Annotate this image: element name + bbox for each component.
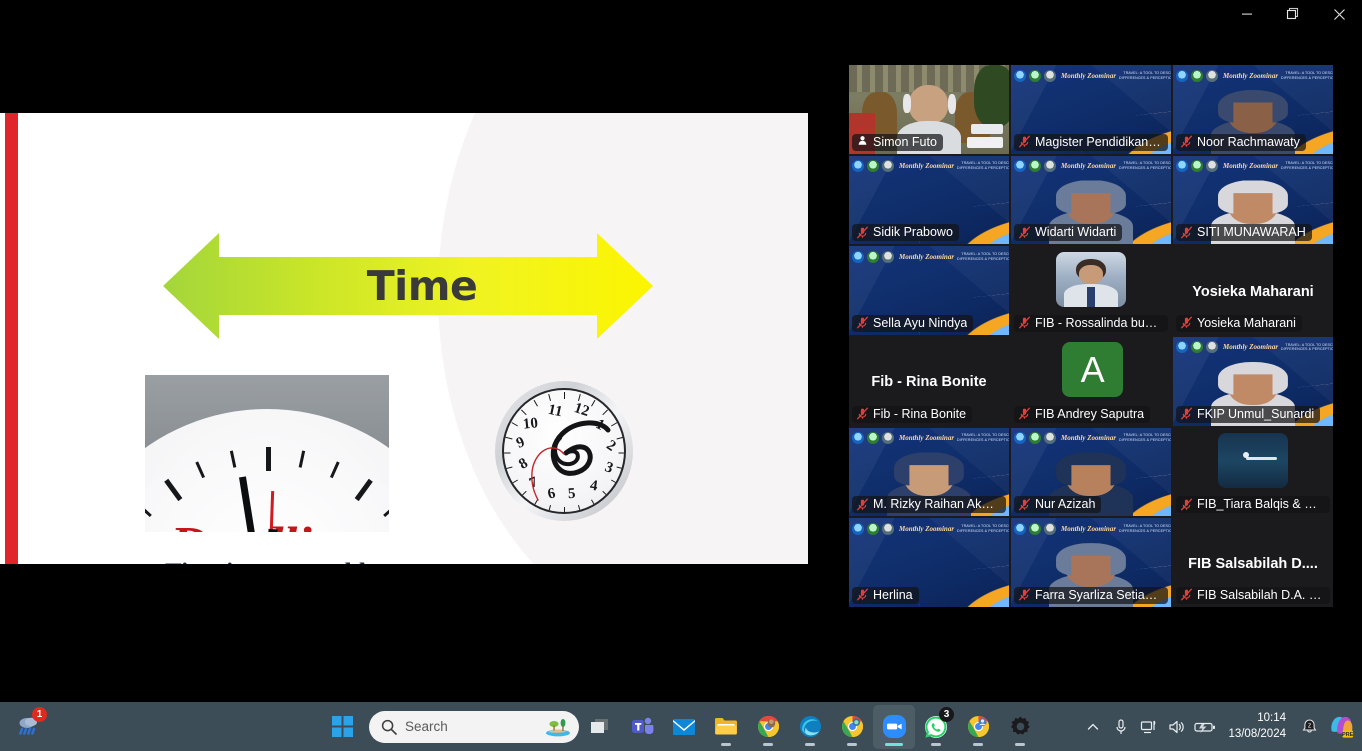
copilot-button[interactable]: PRE (1324, 705, 1356, 749)
restore-button[interactable] (1270, 0, 1316, 28)
microphone-button[interactable] (1108, 705, 1134, 749)
participant-tile[interactable]: Monthly Zoominar TRAVEL: A TOOL TO DESCR… (1173, 156, 1333, 245)
banner-tagline: TRAVEL: A TOOL TO DESCRIBE CULTUREDIFFER… (1119, 524, 1171, 534)
system-tray: 10:14 13/08/2024 z PRE (1080, 705, 1356, 749)
institution-logo-1-icon (852, 251, 864, 263)
muted-microphone-icon (1180, 498, 1193, 511)
institution-logo-3-icon (1206, 341, 1218, 353)
slide-letterbox-top (0, 85, 808, 113)
banner-title: Monthly Zoominar (1223, 72, 1278, 80)
banner-tagline: TRAVEL: A TOOL TO DESCRIBE CULTUREDIFFER… (1281, 343, 1333, 353)
show-hidden-icons-button[interactable] (1080, 705, 1106, 749)
participant-tile[interactable]: Monthly Zoominar TRAVEL: A TOOL TO DESCR… (1011, 428, 1171, 517)
banner-title: Monthly Zoominar (1061, 72, 1116, 80)
participant-name: Nur Azizah (1035, 497, 1095, 511)
institution-logo-3-icon (1206, 160, 1218, 172)
virtual-background-banner: Monthly Zoominar TRAVEL: A TOOL TO DESCR… (1014, 521, 1168, 536)
avatar-letter: A (1081, 349, 1105, 391)
participant-name-label: SITI MUNAWARAH (1176, 224, 1312, 241)
institution-logo-1-icon (1014, 70, 1026, 82)
banner-tagline: TRAVEL: A TOOL TO DESCRIBE CULTUREDIFFER… (957, 433, 1009, 443)
participant-name-label: Widarti Widarti (1014, 224, 1122, 241)
participant-tile[interactable]: Simon Futo (849, 65, 1009, 154)
virtual-background-banner: Monthly Zoominar TRAVEL: A TOOL TO DESCR… (1014, 159, 1168, 174)
task-view-icon (589, 717, 611, 737)
pinned-icon (856, 135, 869, 148)
banner-tagline: TRAVEL: A TOOL TO DESCRIBE CULTUREDIFFER… (1281, 161, 1333, 171)
deadline-clock-image: Deadline (145, 375, 389, 532)
taskbar-left-cluster: 1 (8, 705, 50, 749)
participant-name: Farra Syarliza Setiawan (1035, 588, 1162, 602)
banner-title: Monthly Zoominar (899, 162, 954, 170)
participant-name: Yosieka Maharani (1197, 316, 1296, 330)
muted-microphone-icon (1180, 135, 1193, 148)
virtual-background-banner: Monthly Zoominar TRAVEL: A TOOL TO DESCR… (1014, 68, 1168, 83)
muted-microphone-icon (856, 226, 869, 239)
chrome-button-1[interactable] (747, 705, 789, 749)
participant-name: Sidik Prabowo (873, 225, 953, 239)
participant-name-label: FIB - Rossalinda budi ... (1014, 315, 1168, 332)
search-input-placeholder[interactable]: Search (405, 719, 537, 734)
presentation-slide[interactable]: Time (0, 85, 808, 589)
institution-logo-2-icon (1191, 160, 1203, 172)
clock-date: 13/08/2024 (1228, 727, 1286, 743)
banner-tagline: TRAVEL: A TOOL TO DESCRIBE CULTUREDIFFER… (957, 524, 1009, 534)
file-explorer-button[interactable] (705, 705, 747, 749)
network-button[interactable] (1136, 705, 1162, 749)
taskbar-center-cluster: Search (321, 705, 1041, 749)
notification-bell-icon: z (1300, 717, 1319, 736)
institution-logo-1-icon (1176, 341, 1188, 353)
banner-tagline: TRAVEL: A TOOL TO DESCRIBE CULTUREDIFFER… (1119, 433, 1171, 443)
banner-tagline: TRAVEL: A TOOL TO DESCRIBE CULTUREDIFFER… (1119, 161, 1171, 171)
muted-microphone-icon (856, 498, 869, 511)
institution-logo-1-icon (1014, 523, 1026, 535)
teams-button[interactable] (621, 705, 663, 749)
participant-tile[interactable]: FIB_Tiara Balqis & Ha... (1173, 428, 1333, 517)
participant-name: FIB_Tiara Balqis & Ha... (1197, 497, 1324, 511)
banner-title: Monthly Zoominar (899, 253, 954, 261)
window-controls (1224, 0, 1362, 28)
search-icon (381, 719, 397, 735)
virtual-background-banner: Monthly Zoominar TRAVEL: A TOOL TO DESCR… (852, 431, 1006, 446)
participant-name: FKIP Unmul_Sunardi (1197, 407, 1314, 421)
participant-name: Sella Ayu Nindya (873, 316, 967, 330)
participant-name-label: Sella Ayu Nindya (852, 315, 973, 332)
screen: Time (0, 0, 1362, 751)
participant-tile[interactable]: Monthly Zoominar TRAVEL: A TOOL TO DESCR… (1173, 337, 1333, 426)
chrome-icon (757, 715, 780, 738)
participant-name-label: FIB Salsabilah D.A. & ... (1176, 587, 1330, 604)
virtual-background-banner: Monthly Zoominar TRAVEL: A TOOL TO DESCR… (1014, 431, 1168, 446)
institution-logo-2-icon (867, 160, 879, 172)
participant-name-label: Nur Azizah (1014, 496, 1101, 513)
institution-logo-3-icon (882, 160, 894, 172)
participant-name: SITI MUNAWARAH (1197, 225, 1306, 239)
participant-display-name: FIB Salsabilah D.... (1173, 556, 1333, 572)
institution-logo-1-icon (852, 432, 864, 444)
institution-logo-2-icon (1029, 523, 1041, 535)
participant-name-label: FIB_Tiara Balqis & Ha... (1176, 496, 1330, 513)
chrome-icon (967, 715, 990, 738)
participant-name: Noor Rachmawaty (1197, 135, 1300, 149)
banner-title: Monthly Zoominar (1061, 162, 1116, 170)
virtual-background-banner: Monthly Zoominar TRAVEL: A TOOL TO DESCR… (852, 159, 1006, 174)
virtual-background-banner: Monthly Zoominar TRAVEL: A TOOL TO DESCR… (1176, 159, 1330, 174)
time-arrow-graphic: Time (163, 233, 653, 339)
video-feed (1218, 433, 1288, 488)
participant-name-label: Noor Rachmawaty (1176, 134, 1306, 151)
speaker-icon (1168, 718, 1186, 736)
participant-tile[interactable]: Monthly Zoominar TRAVEL: A TOOL TO DESCR… (1173, 65, 1333, 154)
restore-icon (1286, 7, 1300, 21)
muted-microphone-icon (1180, 226, 1193, 239)
svg-text:z: z (1307, 722, 1311, 729)
participant-name-label: Yosieka Maharani (1176, 315, 1302, 332)
institution-logo-2-icon (1029, 160, 1041, 172)
svg-text:PRE: PRE (1342, 732, 1353, 738)
muted-microphone-icon (1018, 316, 1031, 329)
windows-icon (332, 716, 353, 737)
institution-logo-2-icon (867, 432, 879, 444)
institution-logo-3-icon (1206, 70, 1218, 82)
close-button[interactable] (1316, 0, 1362, 28)
search-box[interactable]: Search (369, 711, 579, 743)
minimize-icon (1241, 8, 1253, 20)
slide-accent-bar (5, 113, 18, 564)
participant-name-label: Magister Pendidikan ... (1014, 134, 1168, 151)
institution-logo-3-icon (1044, 432, 1056, 444)
task-view-button[interactable] (579, 705, 621, 749)
start-button[interactable] (321, 705, 363, 749)
institution-logo-3-icon (1044, 70, 1056, 82)
mail-icon (672, 717, 696, 737)
participant-tile[interactable]: Monthly Zoominar TRAVEL: A TOOL TO DESCR… (1011, 65, 1171, 154)
participant-name: Herlina (873, 588, 913, 602)
close-icon (1333, 8, 1346, 21)
relative-time-clock-image: 12 1 2 3 4 5 6 7 8 9 10 11 (495, 381, 633, 521)
institution-logo-2-icon (1191, 70, 1203, 82)
institution-logo-1-icon (1176, 70, 1188, 82)
banner-tagline: TRAVEL: A TOOL TO DESCRIBE CULTUREDIFFER… (957, 252, 1009, 262)
muted-microphone-icon (856, 407, 869, 420)
microphone-icon (1113, 718, 1129, 736)
zoom-icon (882, 714, 907, 739)
participant-tile[interactable]: Monthly Zoominar TRAVEL: A TOOL TO DESCR… (849, 246, 1009, 335)
muted-microphone-icon (856, 316, 869, 329)
banner-title: Monthly Zoominar (1061, 434, 1116, 442)
participant-name: FIB - Rossalinda budi ... (1035, 316, 1162, 330)
participant-tile[interactable]: Monthly Zoominar TRAVEL: A TOOL TO DESCR… (849, 428, 1009, 517)
taskbar: 1 Search (0, 702, 1362, 751)
caption-time-is-manageable: Time is manageable (160, 557, 382, 564)
caption-time-is-relative: Time is relative (452, 559, 664, 564)
participant-tile[interactable]: Fib - Rina Bonite Fib - Rina Bonite (849, 337, 1009, 426)
weather-badge: 1 (32, 707, 47, 722)
institution-logo-2-icon (1029, 432, 1041, 444)
participant-display-name: Yosieka Maharani (1173, 284, 1333, 300)
participant-name-label: Fib - Rina Bonite (852, 406, 972, 423)
participant-tile[interactable]: Yosieka Maharani Yosieka Maharani (1173, 246, 1333, 335)
swirl-hands-icon (504, 390, 626, 514)
participant-tile[interactable]: FIB Salsabilah D.... FIB Salsabilah D.A.… (1173, 518, 1333, 607)
institution-logo-1-icon (852, 523, 864, 535)
institution-logo-3-icon (882, 523, 894, 535)
banner-title: Monthly Zoominar (1061, 525, 1116, 533)
institution-logo-3-icon (882, 251, 894, 263)
participant-name-label: M. Rizky Raihan Akm... (852, 496, 1006, 513)
network-icon (1140, 718, 1158, 736)
participant-name-label: Sidik Prabowo (852, 224, 959, 241)
participant-name-label: Simon Futo (852, 134, 943, 151)
teams-icon (631, 715, 654, 738)
participant-tile[interactable]: Monthly Zoominar TRAVEL: A TOOL TO DESCR… (1011, 518, 1171, 607)
gear-icon (1009, 715, 1032, 738)
edge-icon (799, 715, 822, 738)
whatsapp-button[interactable]: 3 (915, 705, 957, 749)
video-feed (1056, 252, 1126, 307)
muted-microphone-icon (856, 588, 869, 601)
participant-tile[interactable]: Monthly Zoominar TRAVEL: A TOOL TO DESCR… (1011, 156, 1171, 245)
participant-tile[interactable]: Monthly Zoominar TRAVEL: A TOOL TO DESCR… (849, 518, 1009, 607)
virtual-background-banner: Monthly Zoominar TRAVEL: A TOOL TO DESCR… (852, 249, 1006, 264)
institution-logo-2-icon (1191, 341, 1203, 353)
institution-logo-2-icon (867, 523, 879, 535)
time-arrow-label: Time (163, 233, 653, 339)
institution-logo-3-icon (1044, 523, 1056, 535)
muted-microphone-icon (1180, 407, 1193, 420)
volume-button[interactable] (1164, 705, 1190, 749)
institution-logo-2-icon (1029, 70, 1041, 82)
participant-name: Widarti Widarti (1035, 225, 1116, 239)
banner-tagline: TRAVEL: A TOOL TO DESCRIBE CULTUREDIFFER… (957, 161, 1009, 171)
participant-tile[interactable]: FIB - Rossalinda budi ... (1011, 246, 1171, 335)
virtual-background-banner: Monthly Zoominar TRAVEL: A TOOL TO DESCR… (1176, 340, 1330, 355)
virtual-background-banner: Monthly Zoominar TRAVEL: A TOOL TO DESCR… (852, 521, 1006, 536)
institution-logo-1-icon (1014, 432, 1026, 444)
participant-name-label: FIB Andrey Saputra (1014, 406, 1150, 423)
deadline-word: Deadline (145, 517, 389, 532)
muted-microphone-icon (1018, 226, 1031, 239)
participant-name: FIB Andrey Saputra (1035, 407, 1144, 421)
chevron-up-icon (1086, 720, 1100, 734)
muted-microphone-icon (1018, 498, 1031, 511)
virtual-background-banner: Monthly Zoominar TRAVEL: A TOOL TO DESCR… (1176, 68, 1330, 83)
notification-button[interactable]: z (1296, 705, 1322, 749)
banner-tagline: TRAVEL: A TOOL TO DESCRIBE CULTUREDIFFER… (1119, 71, 1171, 81)
chrome-button-2[interactable] (831, 705, 873, 749)
banner-title: Monthly Zoominar (899, 525, 954, 533)
island-illustration-icon (545, 717, 571, 737)
edge-button[interactable] (789, 705, 831, 749)
chrome-button-3[interactable] (957, 705, 999, 749)
battery-button[interactable] (1192, 705, 1218, 749)
participant-tile[interactable]: Monthly Zoominar TRAVEL: A TOOL TO DESCR… (849, 156, 1009, 245)
minimize-button[interactable] (1224, 0, 1270, 28)
file-explorer-icon (714, 716, 738, 737)
participant-name-label: Herlina (852, 587, 919, 604)
participant-name-label: FKIP Unmul_Sunardi (1176, 406, 1320, 423)
participant-display-name: Fib - Rina Bonite (849, 374, 1009, 390)
banner-title: Monthly Zoominar (1223, 162, 1278, 170)
institution-logo-3-icon (1044, 160, 1056, 172)
banner-title: Monthly Zoominar (899, 434, 954, 442)
participant-tile[interactable]: A FIB Andrey Saputra (1011, 337, 1171, 426)
institution-logo-1-icon (852, 160, 864, 172)
clock-time: 10:14 (1257, 711, 1286, 727)
banner-title: Monthly Zoominar (1223, 343, 1278, 351)
participant-name: M. Rizky Raihan Akm... (873, 497, 1000, 511)
muted-microphone-icon (1018, 588, 1031, 601)
slide-letterbox-bottom (0, 564, 808, 589)
copilot-icon: PRE (1327, 713, 1354, 740)
zoom-button[interactable] (873, 705, 915, 749)
clock[interactable]: 10:14 13/08/2024 (1220, 711, 1294, 742)
muted-microphone-icon (1180, 316, 1193, 329)
whatsapp-badge: 3 (939, 707, 954, 722)
muted-microphone-icon (1018, 407, 1031, 420)
participant-name-label: Farra Syarliza Setiawan (1014, 587, 1168, 604)
avatar: A (1062, 342, 1123, 397)
participant-name: Magister Pendidikan ... (1035, 135, 1162, 149)
settings-button[interactable] (999, 705, 1041, 749)
banner-tagline: TRAVEL: A TOOL TO DESCRIBE CULTUREDIFFER… (1281, 71, 1333, 81)
chrome-icon (841, 715, 864, 738)
participant-name: FIB Salsabilah D.A. & ... (1197, 588, 1324, 602)
battery-icon (1194, 719, 1216, 735)
muted-microphone-icon (1180, 588, 1193, 601)
weather-widget[interactable]: 1 (8, 705, 50, 749)
slide-canvas: Time (0, 113, 808, 564)
participant-gallery[interactable]: Simon Futo Monthly Zoominar TRAVEL: A TO… (849, 65, 1333, 607)
institution-logo-1-icon (1176, 160, 1188, 172)
participant-name: Simon Futo (873, 135, 937, 149)
mail-button[interactable] (663, 705, 705, 749)
institution-logo-1-icon (1014, 160, 1026, 172)
institution-logo-2-icon (867, 251, 879, 263)
muted-microphone-icon (1018, 135, 1031, 148)
institution-logo-3-icon (882, 432, 894, 444)
participant-name: Fib - Rina Bonite (873, 407, 966, 421)
